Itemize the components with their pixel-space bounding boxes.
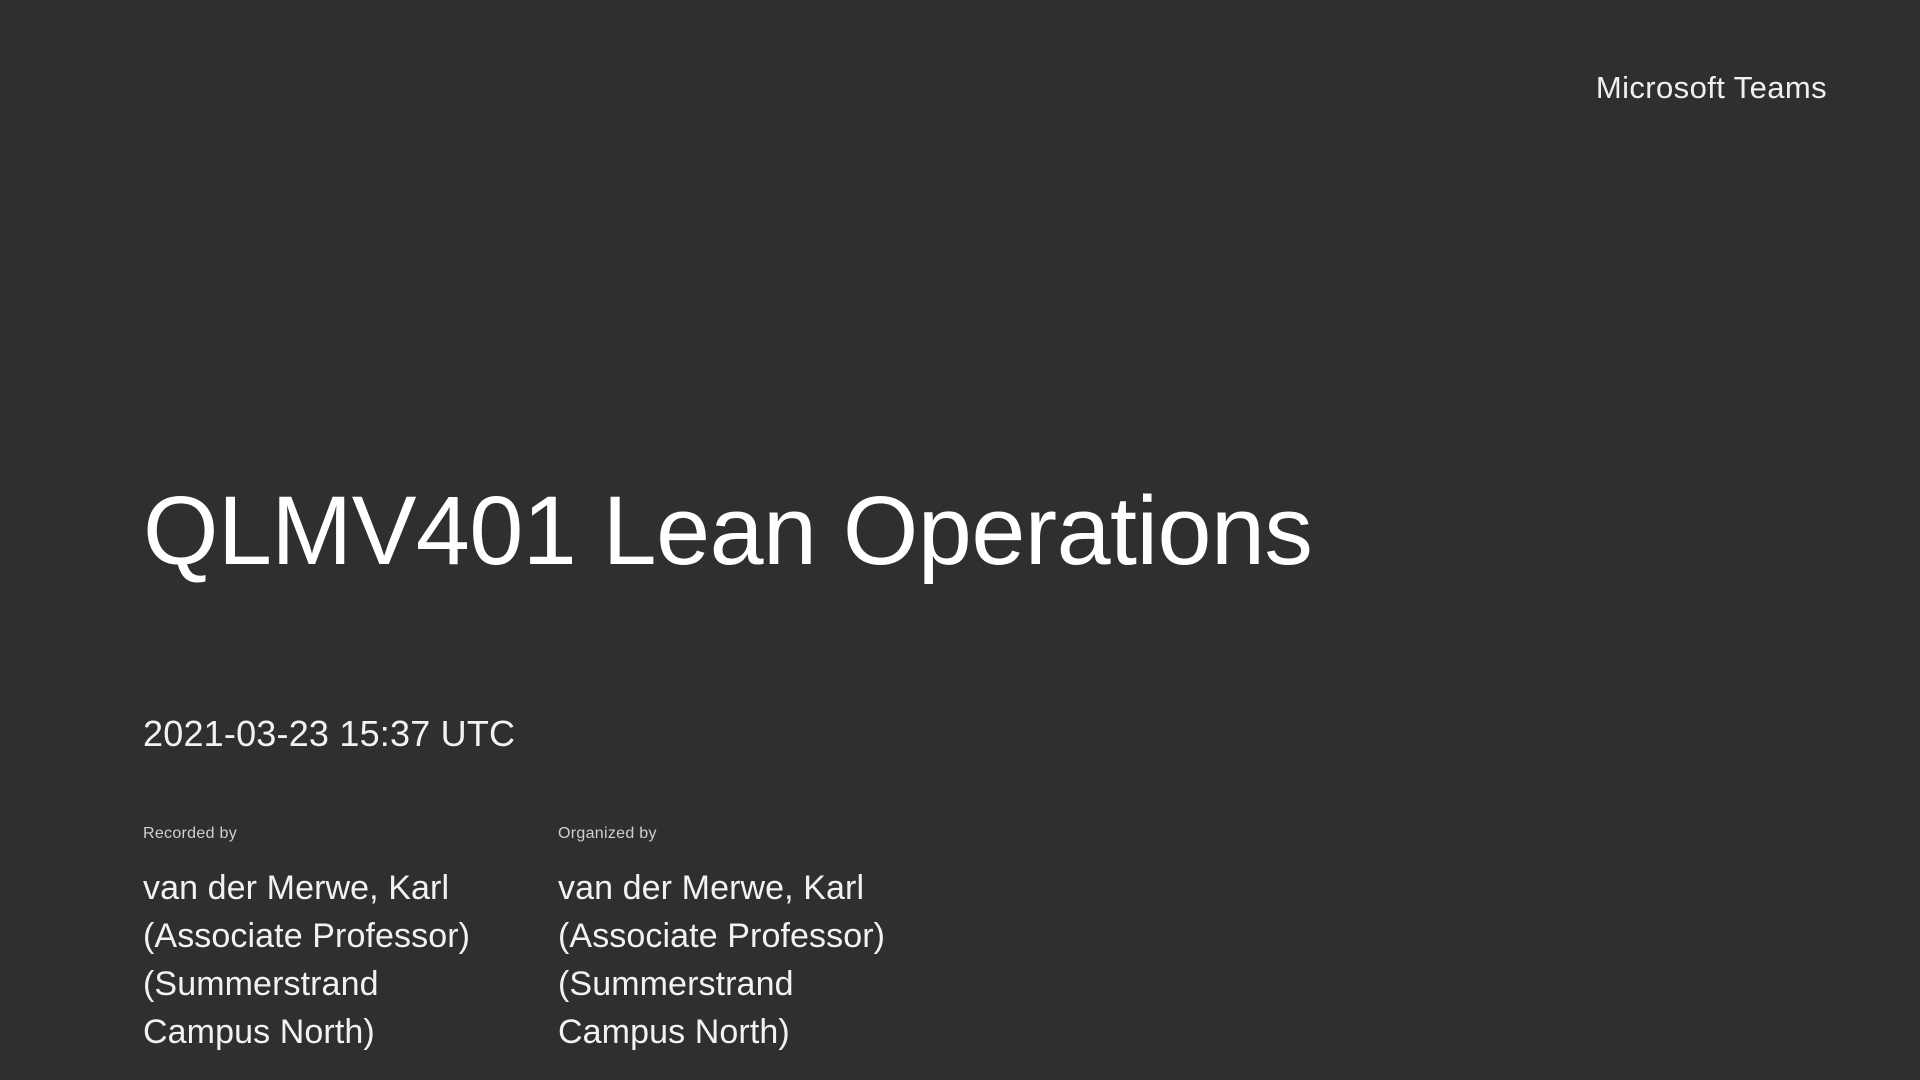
recorded-by-label: Recorded by [143,826,558,842]
teams-recording-title-card: Microsoft Teams QLMV401 Lean Operations … [0,0,1920,1080]
recorded-by-column: Recorded by van der Merwe, Karl (Associa… [143,826,558,1056]
recorded-by-value: van der Merwe, Karl (Associate Professor… [143,864,503,1056]
organized-by-column: Organized by van der Merwe, Karl (Associ… [558,826,973,1056]
meeting-datetime: 2021-03-23 15:37 UTC [143,716,515,752]
meeting-metadata: Recorded by van der Merwe, Karl (Associa… [143,826,973,1056]
organized-by-label: Organized by [558,826,973,842]
microsoft-teams-brand-label: Microsoft Teams [1596,72,1827,103]
meeting-title: QLMV401 Lean Operations [143,482,1312,579]
organized-by-value: van der Merwe, Karl (Associate Professor… [558,864,918,1056]
